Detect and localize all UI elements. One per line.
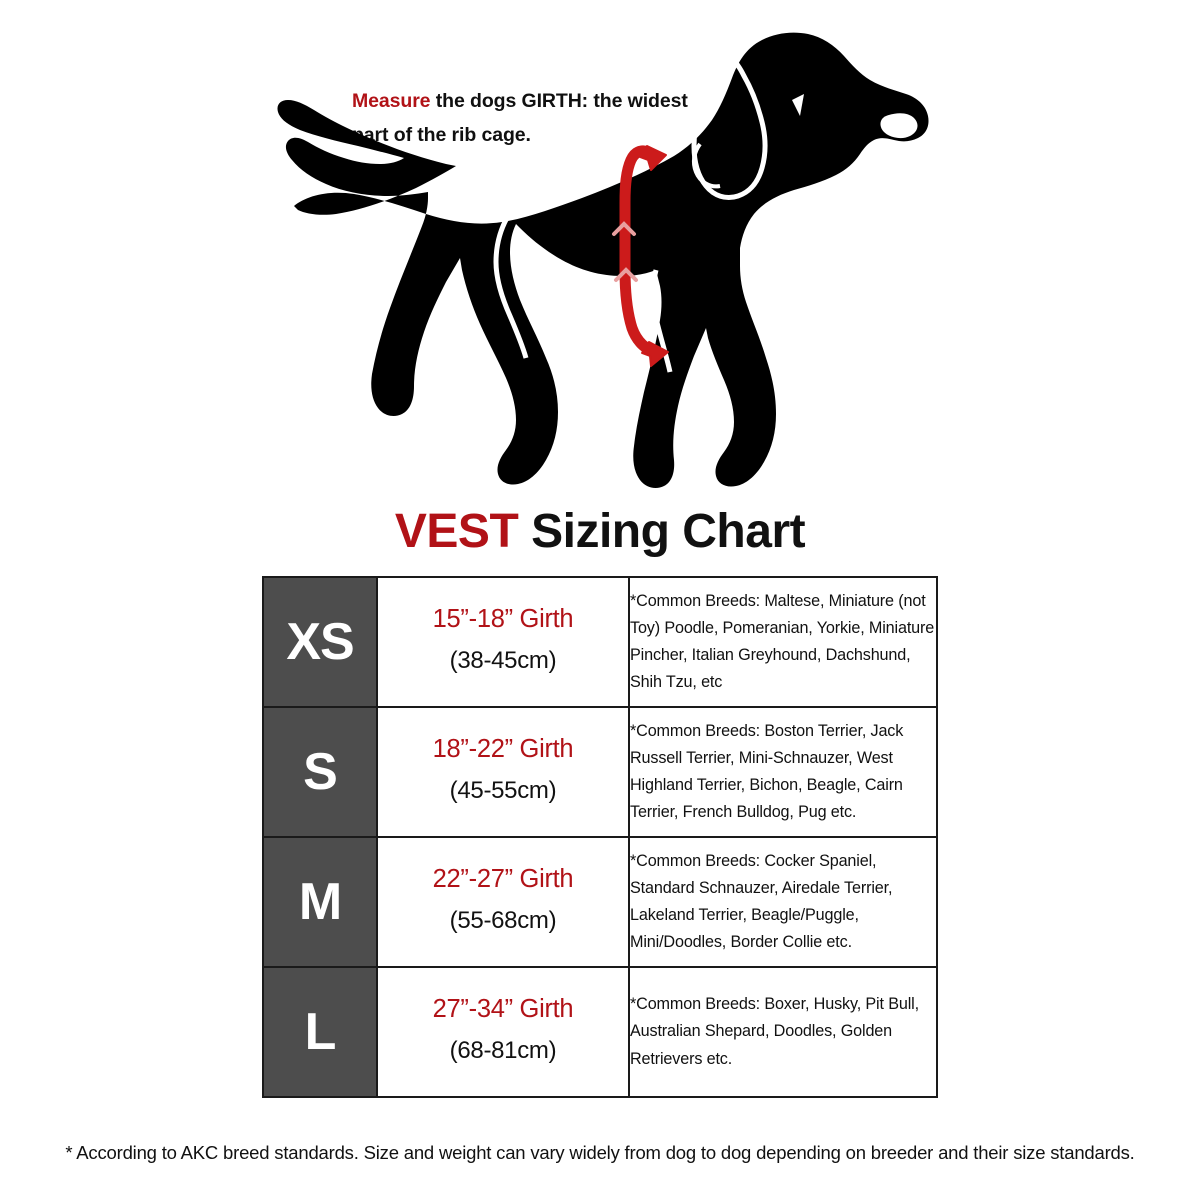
- dog-silhouette-icon: [277, 33, 928, 488]
- girth-centimeters: (45-55cm): [378, 768, 628, 814]
- title-rest: Sizing Chart: [518, 505, 805, 558]
- breeds-cell: *Common Breeds: Cocker Spaniel, Standard…: [629, 837, 937, 967]
- girth-cell: 18”-22” Girth (45-55cm): [377, 707, 629, 837]
- size-label-cell: XS: [263, 577, 377, 707]
- table-row: XS 15”-18” Girth (38-45cm) *Common Breed…: [263, 577, 937, 707]
- girth-centimeters: (55-68cm): [378, 898, 628, 944]
- size-label-cell: L: [263, 967, 377, 1097]
- girth-cell: 27”-34” Girth (68-81cm): [377, 967, 629, 1097]
- girth-cell: 15”-18” Girth (38-45cm): [377, 577, 629, 707]
- girth-centimeters: (68-81cm): [378, 1028, 628, 1074]
- page-title: VEST Sizing Chart: [0, 504, 1200, 559]
- footnote: * According to AKC breed standards. Size…: [0, 1142, 1200, 1164]
- table-row: S 18”-22” Girth (45-55cm) *Common Breeds…: [263, 707, 937, 837]
- breeds-cell: *Common Breeds: Maltese, Miniature (not …: [629, 577, 937, 707]
- girth-inches: 22”-27” Girth: [378, 861, 628, 898]
- girth-cell: 22”-27” Girth (55-68cm): [377, 837, 629, 967]
- table-row: M 22”-27” Girth (55-68cm) *Common Breeds…: [263, 837, 937, 967]
- breeds-cell: *Common Breeds: Boxer, Husky, Pit Bull, …: [629, 967, 937, 1097]
- table-row: L 27”-34” Girth (68-81cm) *Common Breeds…: [263, 967, 937, 1097]
- vest-sizing-table: XS 15”-18” Girth (38-45cm) *Common Breed…: [262, 576, 938, 1098]
- size-label-cell: S: [263, 707, 377, 837]
- breeds-cell: *Common Breeds: Boston Terrier, Jack Rus…: [629, 707, 937, 837]
- size-label-cell: M: [263, 837, 377, 967]
- title-accent: VEST: [395, 505, 518, 558]
- dog-illustration: [270, 20, 950, 520]
- girth-centimeters: (38-45cm): [378, 638, 628, 684]
- girth-inches: 18”-22” Girth: [378, 731, 628, 768]
- dog-muzzle-line-icon: [874, 142, 900, 146]
- girth-inches: 15”-18” Girth: [378, 601, 628, 638]
- girth-inches: 27”-34” Girth: [378, 991, 628, 1028]
